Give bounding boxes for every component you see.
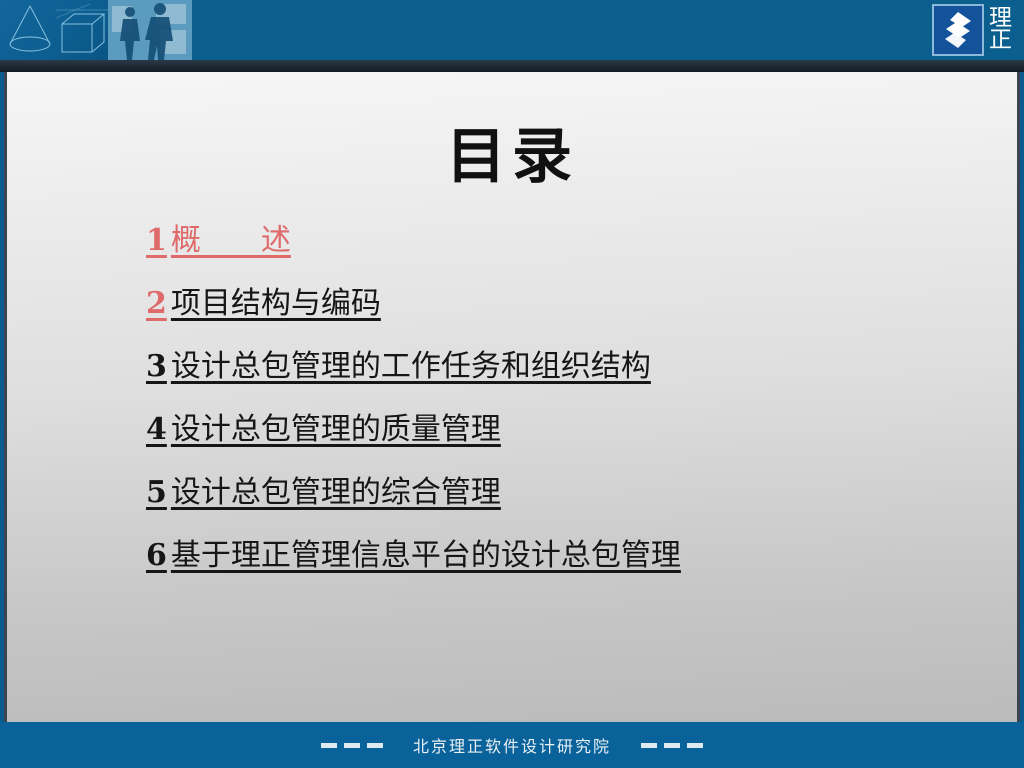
table-of-contents: 1 概 述2 项目结构与编码3 设计总包管理的工作任务和组织结构4 设计总包管理… <box>146 215 986 593</box>
brand-char-bottom: 正 <box>989 30 1012 52</box>
footer-dash <box>687 743 703 748</box>
toc-item-number: 6 <box>146 538 171 573</box>
slide-content-area: 目录 1 概 述2 项目结构与编码3 设计总包管理的工作任务和组织结构4 设计总… <box>4 72 1020 722</box>
toc-item-label: 项目结构与编码 <box>171 278 381 322</box>
footer-dash <box>367 743 383 748</box>
footer-dashes-right <box>641 743 703 748</box>
toc-item-number: 5 <box>146 475 171 510</box>
footer-dash <box>321 743 337 748</box>
toc-item-label: 基于理正管理信息平台的设计总包管理 <box>171 530 681 574</box>
toc-item-6[interactable]: 6 基于理正管理信息平台的设计总包管理 <box>146 530 986 593</box>
wireframe-geometry-artwork <box>0 0 108 60</box>
toc-item-label: 设计总包管理的工作任务和组织结构 <box>171 341 651 385</box>
slide-header-band: 理 正 <box>0 0 1024 60</box>
toc-item-label: 设计总包管理的综合管理 <box>171 467 501 511</box>
slide-footer-bar: 北京理正软件设计研究院 <box>0 722 1024 768</box>
header-separator-band <box>0 60 1024 72</box>
toc-item-number: 3 <box>146 349 171 384</box>
header-blue-fill <box>192 0 1024 60</box>
toc-item-label: 概 述 <box>171 215 291 259</box>
footer-organization-name: 北京理正软件设计研究院 <box>413 733 611 757</box>
lizheng-diamond-logo <box>932 4 984 56</box>
toc-item-number: 4 <box>146 412 171 447</box>
footer-dash <box>641 743 657 748</box>
footer-dash <box>664 743 680 748</box>
toc-item-4[interactable]: 4 设计总包管理的质量管理 <box>146 404 986 467</box>
toc-item-label: 设计总包管理的质量管理 <box>171 404 501 448</box>
brand-logo-text: 理 正 <box>989 8 1012 52</box>
toc-item-number: 1 <box>146 223 171 258</box>
presentation-slide: 理 正 目录 1 概 述2 项目结构与编码3 设计总包管理的工作任务和组织结构4… <box>0 0 1024 768</box>
footer-dashes-left <box>321 743 383 748</box>
footer-dash <box>344 743 360 748</box>
page-title: 目录 <box>7 108 1017 195</box>
toc-item-1[interactable]: 1 概 述 <box>146 215 986 278</box>
toc-item-5[interactable]: 5 设计总包管理的综合管理 <box>146 467 986 530</box>
brand-logo: 理 正 <box>932 2 1012 58</box>
office-people-photo <box>108 0 192 60</box>
toc-item-number: 2 <box>146 286 171 321</box>
toc-item-3[interactable]: 3 设计总包管理的工作任务和组织结构 <box>146 341 986 404</box>
toc-item-2[interactable]: 2 项目结构与编码 <box>146 278 986 341</box>
